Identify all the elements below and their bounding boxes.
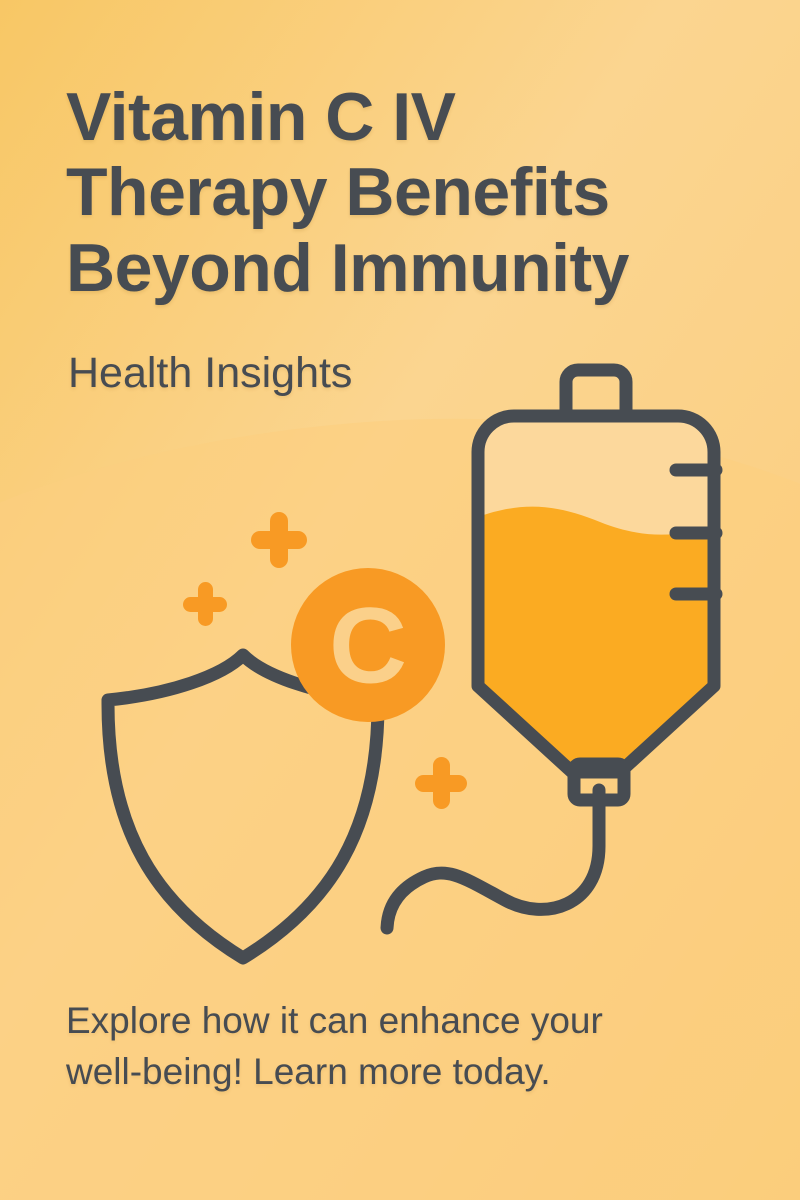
iv-bag-fluid [470, 507, 724, 800]
cta-text: Explore how it can enhance your well-bei… [66, 995, 746, 1097]
plus-sparkle-small [183, 582, 227, 626]
cta-line-1: Explore how it can enhance your [66, 995, 746, 1046]
cta-line-2: well-being! Learn more today. [66, 1046, 746, 1097]
plus-sparkle-large [251, 512, 307, 568]
iv-tube [387, 790, 599, 928]
iv-bag-outlet-port [574, 764, 624, 800]
plus-sparkle-medium [415, 757, 467, 809]
headline-line-1: Vitamin C IV [66, 80, 726, 155]
poster-canvas: C Vitamin C IV Therapy Benefits Beyond I… [0, 0, 800, 1200]
page-title: Vitamin C IV Therapy Benefits Beyond Imm… [66, 80, 726, 306]
iv-bag [470, 370, 724, 800]
headline-line-3: Beyond Immunity [66, 231, 726, 306]
subtitle: Health Insights [68, 350, 352, 397]
headline-line-2: Therapy Benefits [66, 155, 726, 230]
iv-bag-hanger-loop [566, 370, 626, 414]
vitamin-c-badge: C [291, 568, 445, 722]
vitamin-c-letter: C [329, 585, 407, 706]
